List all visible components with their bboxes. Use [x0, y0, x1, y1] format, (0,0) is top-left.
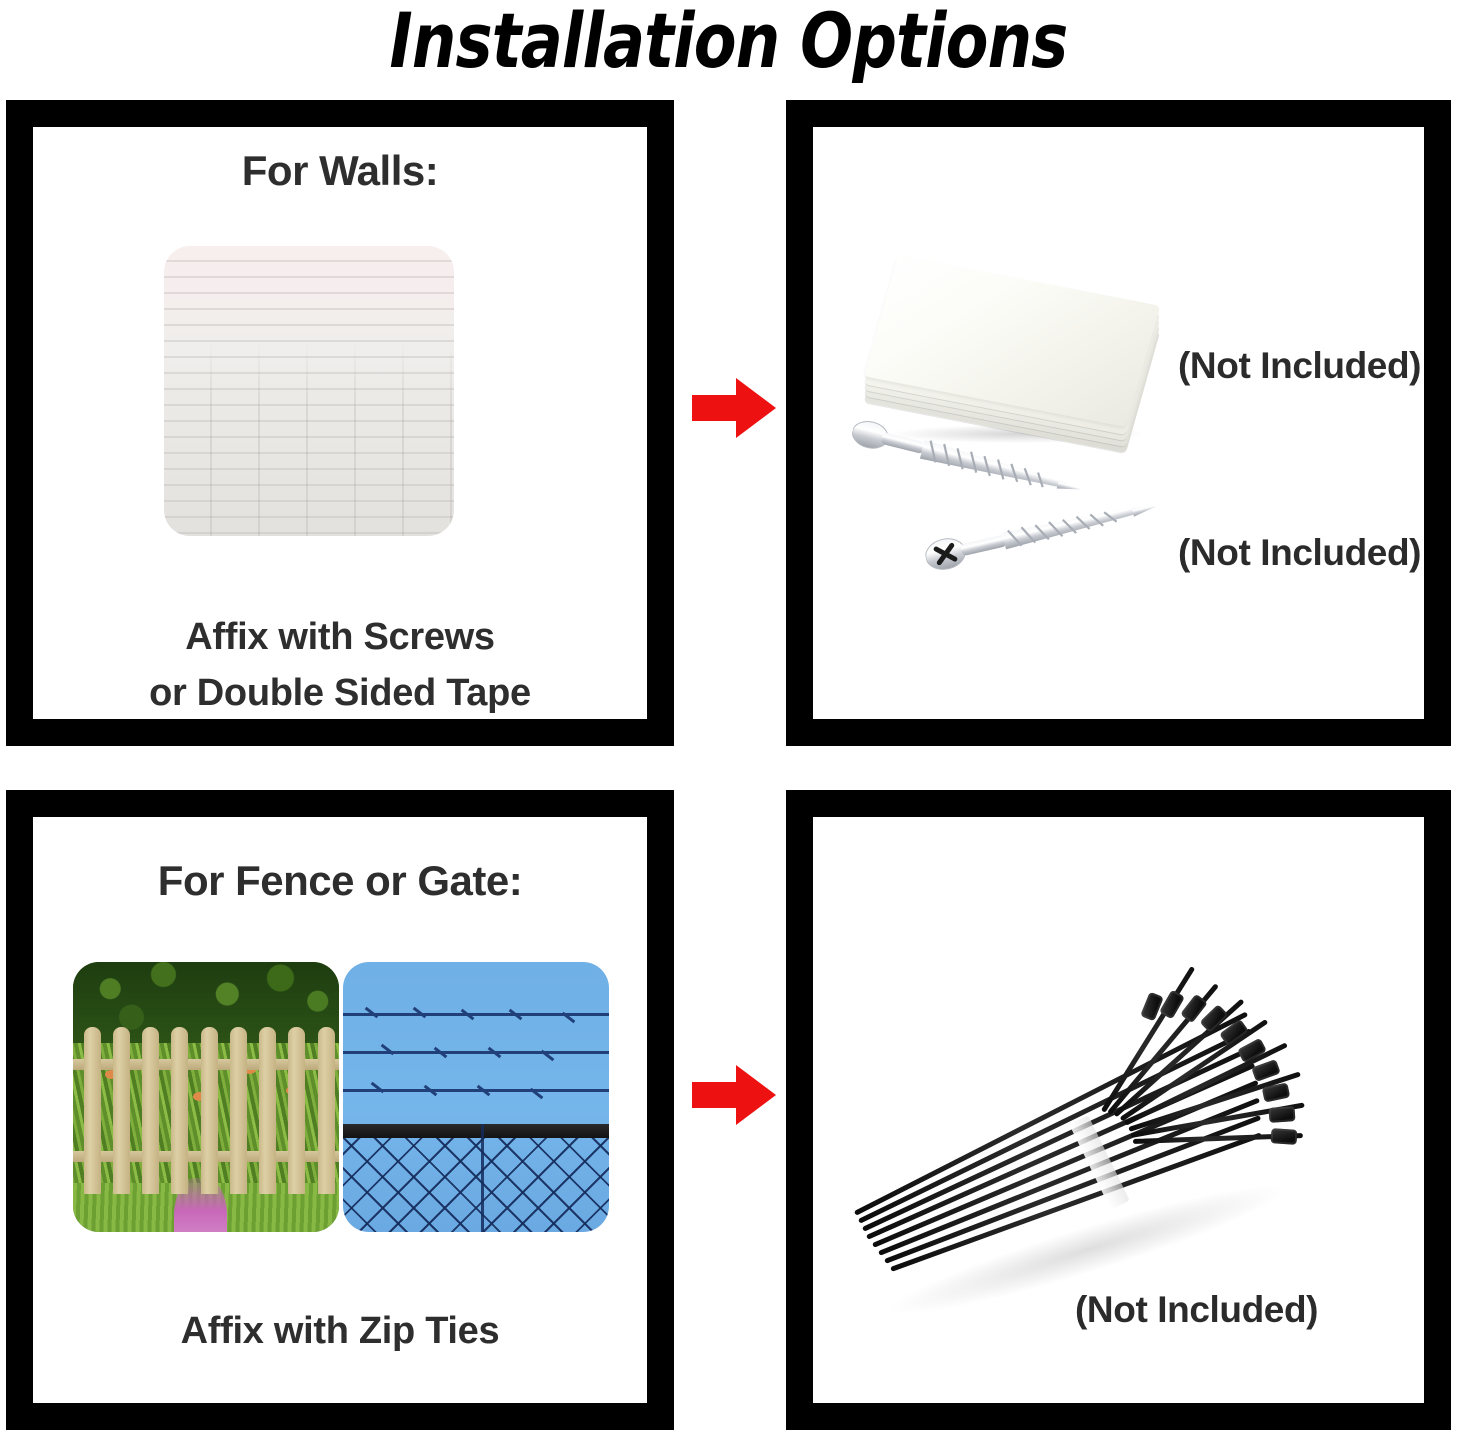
- zip-tie-head: [1269, 1106, 1296, 1123]
- pf-picket: [230, 1027, 247, 1194]
- double-sided-tape-pads-image: [881, 257, 1171, 447]
- chain-link-barbed-wire-fence-image: [343, 962, 609, 1232]
- heading-for-walls: For Walls:: [33, 147, 647, 195]
- wooden-picket-fence-image: [73, 962, 339, 1232]
- zip-tie-strand-fan: [1101, 966, 1195, 1113]
- zip-ties-not-included-label: (Not Included): [1075, 1289, 1318, 1331]
- tape-not-included-label: (Not Included): [1178, 345, 1421, 387]
- wood-screw-lower-image: [922, 489, 1160, 575]
- pf-picket: [142, 1027, 159, 1194]
- cl-top-rail: [343, 1124, 609, 1138]
- pf-picket: [318, 1027, 335, 1194]
- pf-picket: [84, 1027, 101, 1194]
- cl-diamond-mesh: [343, 1138, 609, 1232]
- black-zip-ties-bundle-image: [853, 959, 1373, 1329]
- pf-picket: [171, 1027, 188, 1194]
- heading-for-fence-or-gate: For Fence or Gate:: [33, 857, 647, 905]
- panel-for-walls-content: For Walls: Affix with Screws or Double S…: [33, 127, 647, 719]
- pf-picket: [288, 1027, 305, 1194]
- cl-barbed-wire: [343, 1051, 609, 1054]
- pf-picket: [259, 1027, 276, 1194]
- panel-wall-hardware-content: (Not Included): [813, 127, 1424, 719]
- panel-for-fence-or-gate: For Fence or Gate:: [6, 790, 674, 1430]
- caption-for-fence: Affix with Zip Ties: [33, 1303, 647, 1359]
- panel-wall-hardware: (Not Included): [786, 100, 1451, 746]
- zip-tie-head: [1199, 1004, 1228, 1033]
- panel-for-walls: For Walls: Affix with Screws or Double S…: [6, 100, 674, 746]
- red-right-arrow-icon-fence: [692, 1064, 776, 1126]
- caption-line-1: Affix with Screws: [33, 609, 647, 665]
- caption-for-walls: Affix with Screws or Double Sided Tape: [33, 609, 647, 719]
- screws-not-included-label: (Not Included): [1178, 532, 1421, 574]
- caption-line-2: or Double Sided Tape: [33, 665, 647, 719]
- panel-for-fence-content: For Fence or Gate:: [33, 817, 647, 1403]
- red-right-arrow-icon-walls: [692, 377, 776, 439]
- cl-post: [481, 1124, 484, 1232]
- pf-picket: [201, 1027, 218, 1194]
- panel-zip-ties: (Not Included): [786, 790, 1451, 1430]
- installation-options-infographic: Installation Options For Walls: Affix wi…: [0, 0, 1457, 1434]
- zip-tie-head: [1271, 1128, 1298, 1145]
- pf-picket: [113, 1027, 130, 1194]
- white-brick-wall-image: [164, 246, 454, 536]
- caption-line-1: Affix with Zip Ties: [33, 1303, 647, 1359]
- panel-zip-ties-content: (Not Included): [813, 817, 1424, 1403]
- page-title: Installation Options: [131, 0, 1326, 86]
